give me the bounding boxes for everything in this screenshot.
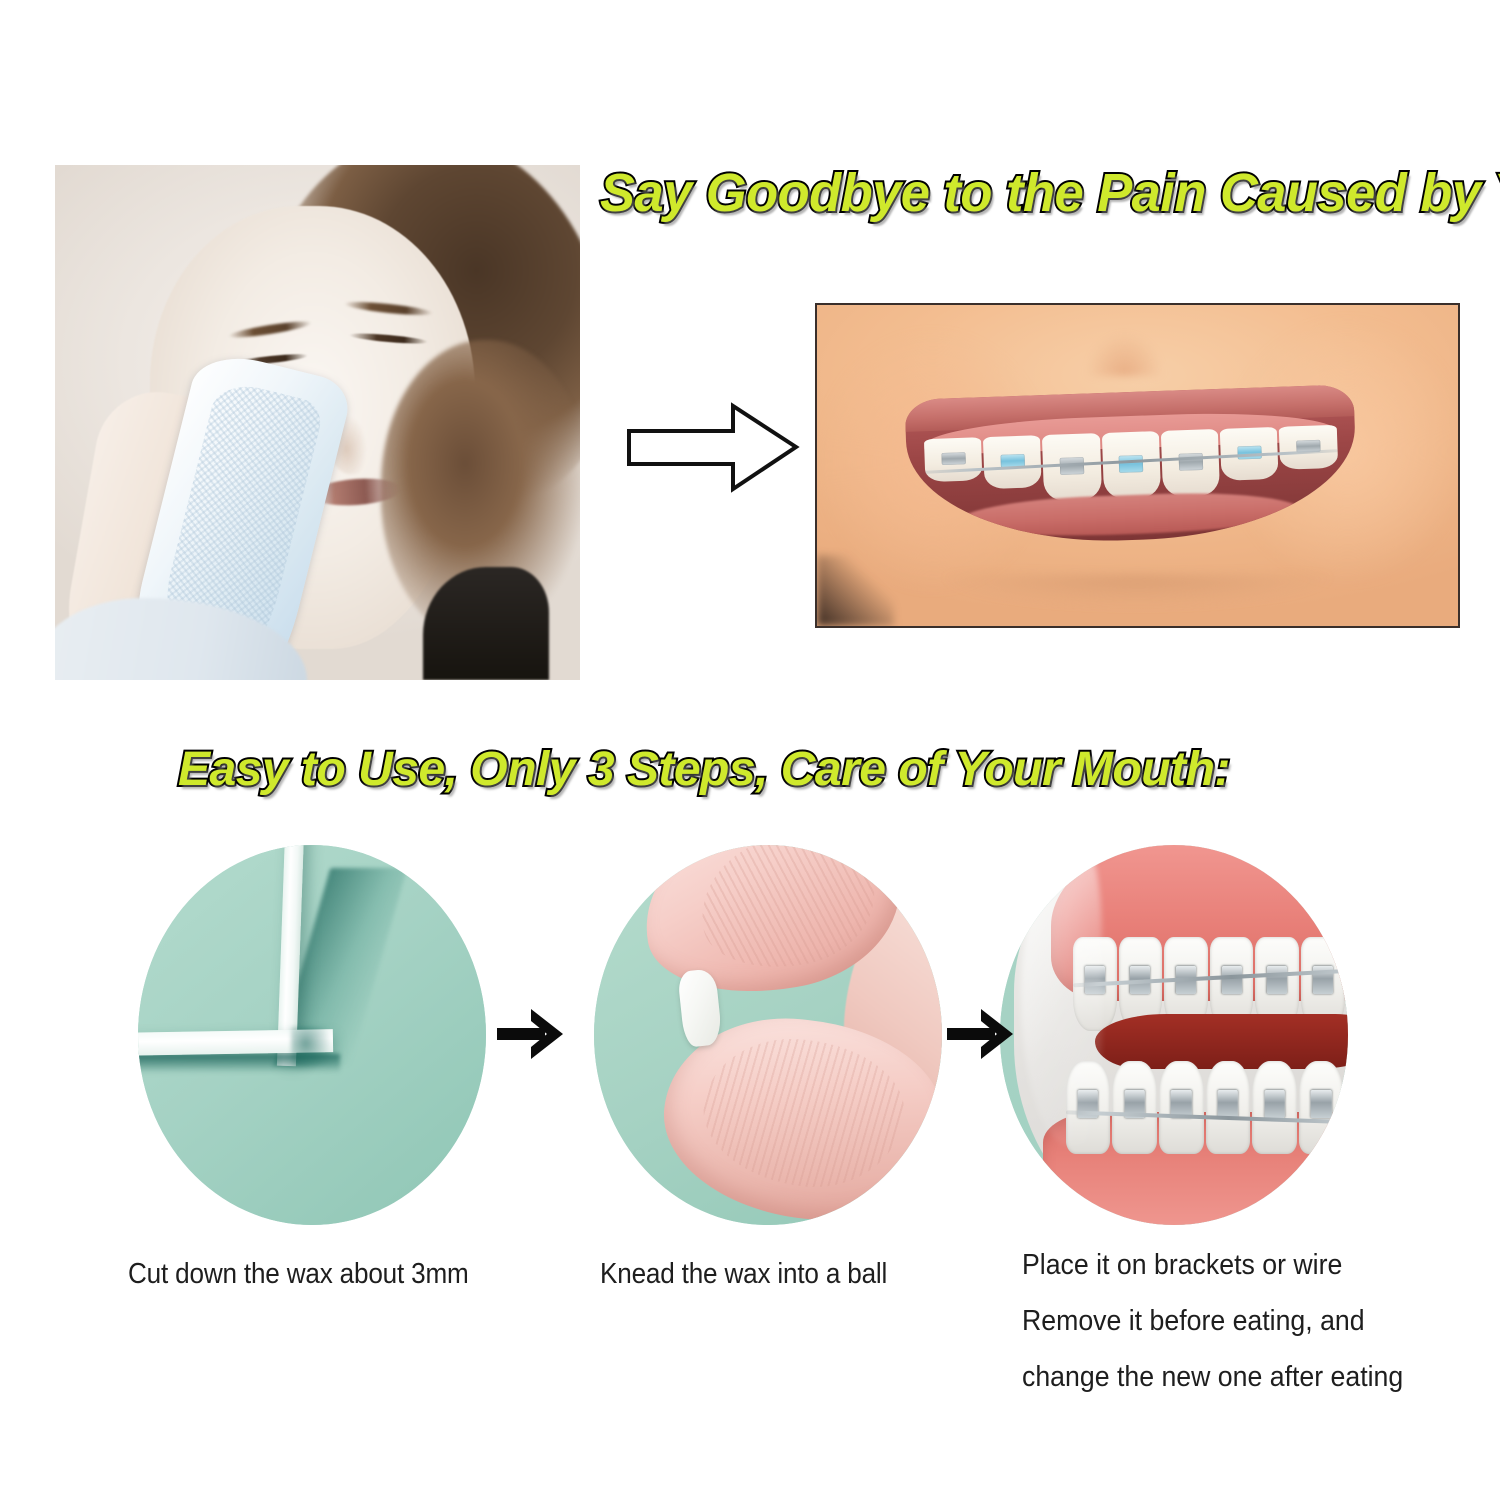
step-3-caption-line-3: change the new one after eating [1022,1349,1403,1405]
right-arrow-icon [495,1005,565,1063]
tooth [1112,1061,1157,1155]
step-1-image [138,845,486,1225]
corner-shadow [817,555,894,626]
dental-model-base [1014,845,1348,1225]
lower-teeth-row [1066,1061,1348,1155]
step-2 [594,845,942,1225]
step-2-image [594,845,942,1225]
bracket-icon [1267,966,1287,994]
bracket-icon [941,452,965,464]
tooth [1252,1061,1297,1155]
tooth [1160,428,1220,496]
bracket-icon [1178,452,1203,470]
tooth [1206,1061,1251,1155]
step-3-caption-line-1: Place it on brackets or wire [1022,1237,1403,1293]
bracket-icon [1311,1090,1332,1118]
wax-corner-shadow [291,1027,340,1080]
step-1-caption: Cut down the wax about 3mm [128,1258,469,1291]
step-3-caption-line-2: Remove it before eating, and [1022,1293,1403,1349]
step-3-caption: Place it on brackets or wire Remove it b… [1022,1237,1403,1405]
step-2-caption: Knead the wax into a ball [600,1258,887,1291]
page-title: Say Goodbye to the Pain Caused by Your B… [600,162,1500,224]
right-arrow-icon [945,1005,1015,1063]
bracket-icon [1218,1090,1239,1118]
tooth [1159,1061,1204,1155]
bracket-icon [1264,1090,1285,1118]
right-block-arrow-icon [625,400,800,495]
bracket-icon [1222,966,1242,994]
before-photo-toothache [55,165,580,680]
step-3 [1000,845,1348,1225]
chin-shadow [932,575,1342,628]
tooth [1101,431,1161,499]
tooth [1345,1061,1348,1155]
step-1 [138,845,486,1225]
infographic-canvas: Say Goodbye to the Pain Caused by Your B… [0,0,1500,1500]
tooth [924,437,983,482]
tooth [1279,424,1338,469]
after-photo-braces-smile [815,303,1460,628]
tooth [1299,1061,1344,1155]
philtrum-shadow [1073,305,1176,376]
steps-title: Easy to Use, Only 3 Steps, Care of Your … [178,742,1230,797]
tooth [983,435,1042,489]
step-3-image [1000,845,1348,1225]
